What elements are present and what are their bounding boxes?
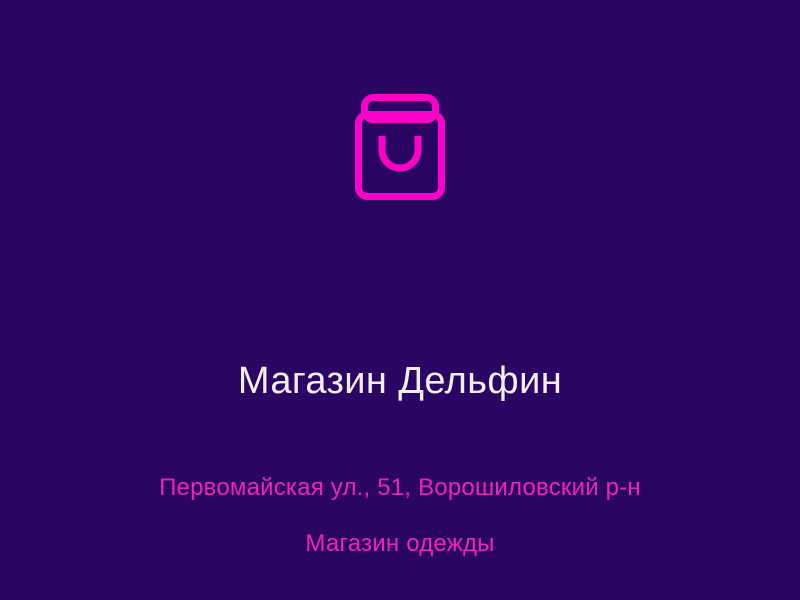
store-name: Магазин Дельфин xyxy=(0,358,800,404)
store-address: Первомайская ул., 51, Ворошиловский р-н xyxy=(0,472,800,504)
store-logo xyxy=(0,92,800,202)
shopping-bag-icon xyxy=(354,92,446,202)
page-title: Магазин Дельфин xyxy=(0,358,800,404)
store-card: Магазин Дельфин Первомайская ул., 51, Во… xyxy=(0,0,800,600)
store-category: Магазин одежды xyxy=(0,528,800,560)
store-meta: Первомайская ул., 51, Ворошиловский р-н … xyxy=(0,472,800,560)
